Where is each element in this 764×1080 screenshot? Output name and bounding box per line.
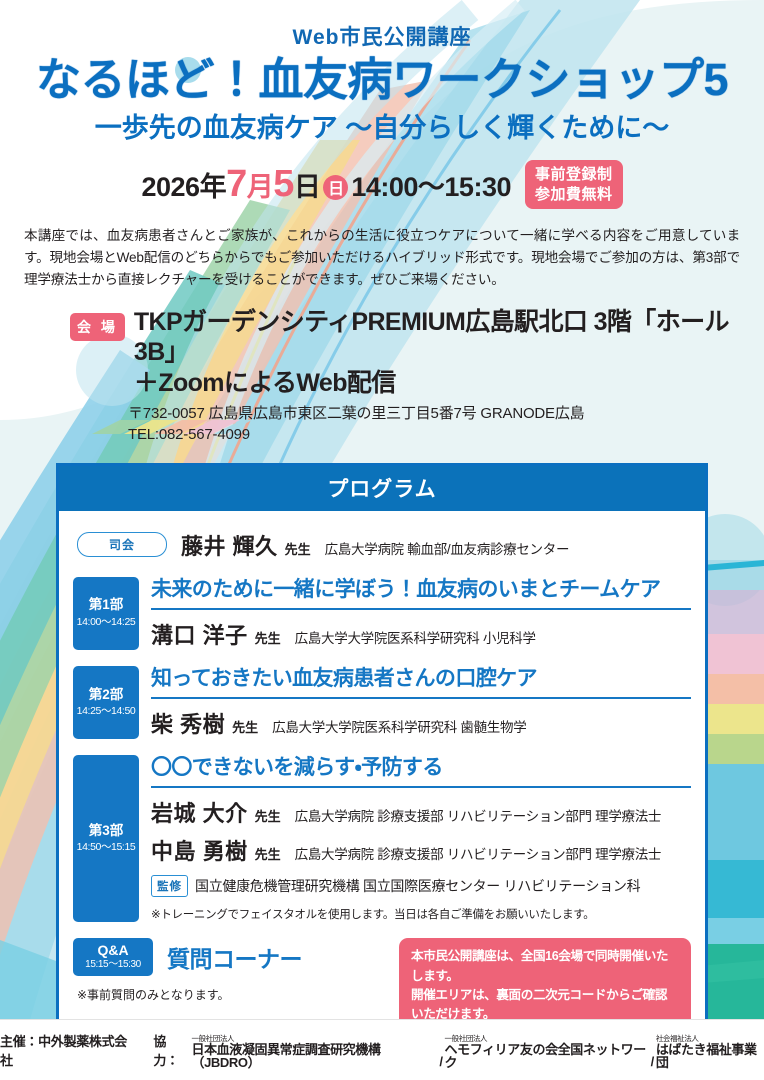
footer-org-1-name: 日本血液凝固異常症調査研究機構（JBDRO） — [191, 1043, 437, 1069]
poster-header: Web市民公開講座 なるほど！血友病ワークショップ5 一歩先の血友病ケア ～自分… — [0, 0, 764, 144]
footer-coop-label: 協力： — [153, 1031, 189, 1069]
session-1-title: 未来のために一緒に学ぼう！血友病のいまとチームケア — [151, 577, 691, 610]
qa-title: 質問コーナー — [167, 940, 302, 974]
event-time: 14:00～15:30 — [351, 165, 511, 204]
chair-affiliation: 広島大学病院 輸血部/血友病診療センター — [325, 538, 570, 558]
date-month-unit: 月 — [247, 165, 274, 204]
date-month-number: 7 — [226, 165, 247, 203]
session-3-tag-time: 14:50～15:15 — [77, 841, 136, 855]
date-day-number: 5 — [273, 165, 294, 203]
program-body: 司会 藤井 輝久 先生 広島大学病院 輸血部/血友病診療センター 第1部 14:… — [59, 511, 705, 1080]
session-1-speaker-1-honorific: 先生 — [255, 628, 281, 647]
session-3-speaker-2-name: 中島 勇樹 — [151, 834, 248, 866]
venue-name-line1: TKPガーデンシティPREMIUM広島駅北口 3階「ホール3B」 — [134, 307, 764, 368]
footer-org-1-sup: 一般社団法人 — [191, 1035, 234, 1043]
footer-org-1: 一般社団法人 日本血液凝固異常症調査研究機構（JBDRO） — [191, 1035, 437, 1070]
session-2: 第2部 14:25～14:50 知っておきたい血友病患者さんの口腔ケア 柴 秀樹… — [73, 666, 691, 739]
session-1-speaker-1-name: 溝口 洋子 — [151, 618, 248, 650]
footer-cooperation: 協力： 一般社団法人 日本血液凝固異常症調査研究機構（JBDRO） / 一般社団… — [153, 1031, 764, 1069]
venue-badge: 会 場 — [70, 313, 125, 341]
session-2-tag-label: 第2部 — [89, 687, 124, 703]
program-panel: プログラム 司会 藤井 輝久 先生 広島大学病院 輸血部/血友病診療センター 第… — [56, 463, 708, 1080]
description-text: 本講座では、血友病患者さんとご家族が、これからの生活に役立つケアについて一緒に学… — [24, 225, 740, 291]
date-day-unit: 日 — [294, 165, 321, 204]
session-3-speaker-2: 中島 勇樹 先生 広島大学病院 診療支援部 リハビリテーション部門 理学療法士 — [151, 834, 691, 866]
kicker-text: Web市民公開講座 — [0, 26, 764, 49]
session-3-tag: 第3部 14:50～15:15 — [73, 755, 139, 922]
weekday-badge: 日 — [323, 175, 348, 200]
session-1-tag-label: 第1部 — [89, 597, 124, 613]
session-3-speaker-1-name: 岩城 大介 — [151, 796, 248, 828]
venue-contact: 〒732-0057 広島県広島市東区二葉の里三丁目5番7号 GRANODE広島 … — [128, 404, 764, 445]
qa-note: ※事前質問のみとなります。 — [77, 986, 393, 1003]
supervisor-text: 国立健康危機管理研究機構 国立国際医療センター リハビリテーション科 — [195, 876, 640, 896]
page-subtitle: 一歩先の血友病ケア ～自分らしく輝くために～ — [0, 113, 764, 144]
qa-badge-label: Q&A — [73, 942, 153, 958]
venue-name-line2: ＋ZoomによるWeb配信 — [134, 368, 764, 399]
session-2-tag-time: 14:25～14:50 — [77, 705, 136, 719]
session-3-speaker-1: 岩城 大介 先生 広島大学病院 診療支援部 リハビリテーション部門 理学療法士 — [151, 796, 691, 828]
registration-badge-line1: 事前登録制 — [535, 165, 613, 184]
footer-org-2-name: ヘモフィリア友の会全国ネットワーク — [445, 1043, 649, 1069]
session-2-tag: 第2部 14:25～14:50 — [73, 666, 139, 739]
poster-root: Web市民公開講座 なるほど！血友病ワークショップ5 一歩先の血友病ケア ～自分… — [0, 0, 764, 1080]
session-1-speaker-1-affiliation: 広島大学大学院医系科学研究科 小児科学 — [295, 627, 536, 647]
chair-badge: 司会 — [77, 532, 167, 557]
session-2-speaker-1-honorific: 先生 — [232, 717, 258, 736]
venue-block: 会 場 TKPガーデンシティPREMIUM広島駅北口 3階「ホール3B」 ＋Zo… — [70, 307, 764, 445]
footer-org-3-name: はばたき福祉事業団 — [656, 1043, 764, 1069]
footer-separator-1: / — [439, 1054, 442, 1069]
qa-block: Q&A 15:15～15:30 質問コーナー ※事前質問のみとなります。 — [73, 938, 393, 1003]
session-1-tag-time: 14:00～14:25 — [77, 616, 136, 630]
session-3-speaker-1-honorific: 先生 — [255, 806, 281, 825]
session-3: 第3部 14:50～15:15 〇〇できないを減らす・予防する 岩城 大介 先生… — [73, 755, 691, 922]
footer-host: 主催：中外製薬株式会社 — [0, 1031, 133, 1069]
footer-org-2-sup: 一般社団法人 — [445, 1035, 488, 1043]
session-1-speaker-1: 溝口 洋子 先生 広島大学大学院医系科学研究科 小児科学 — [151, 618, 691, 650]
session-3-speaker-2-honorific: 先生 — [255, 844, 281, 863]
session-3-title: 〇〇できないを減らす・予防する — [151, 755, 691, 788]
poster-footer: 主催：中外製薬株式会社 協力： 一般社団法人 日本血液凝固異常症調査研究機構（J… — [0, 1019, 764, 1080]
date-row: 2026年7月5日日14:00～15:30 事前登録制 参加費無料 — [0, 160, 764, 208]
footer-org-2: 一般社団法人 ヘモフィリア友の会全国ネットワーク — [445, 1035, 649, 1070]
qa-badge: Q&A 15:15～15:30 — [73, 938, 153, 976]
event-datetime: 2026年7月5日日14:00～15:30 — [142, 165, 511, 204]
session-2-title: 知っておきたい血友病患者さんの口腔ケア — [151, 666, 691, 699]
date-year: 2026年 — [142, 165, 227, 204]
session-2-speaker-1: 柴 秀樹 先生 広島大学大学院医系科学研究科 歯髄生物学 — [151, 707, 691, 739]
chair-speaker: 藤井 輝久 先生 広島大学病院 輸血部/血友病診療センター — [181, 529, 569, 561]
session-1: 第1部 14:00～14:25 未来のために一緒に学ぼう！血友病のいまとチームケ… — [73, 577, 691, 650]
chair-row: 司会 藤井 輝久 先生 広島大学病院 輸血部/血友病診療センター — [77, 529, 691, 561]
registration-badge: 事前登録制 参加費無料 — [525, 160, 623, 208]
registration-badge-line2: 参加費無料 — [535, 185, 613, 204]
session-3-supervisor-row: 監修 国立健康危機管理研究機構 国立国際医療センター リハビリテーション科 — [151, 875, 691, 897]
notice-line1: 本市民公開講座は、全国16会場で同時開催いたします。 — [411, 947, 679, 985]
chair-honorific: 先生 — [285, 539, 311, 558]
session-3-note: ※トレーニングでフェイスタオルを使用します。当日は各自ご準備をお願いいたします。 — [151, 906, 691, 922]
footer-org-3: 社会福祉法人 はばたき福祉事業団 — [656, 1035, 764, 1070]
venue-name: TKPガーデンシティPREMIUM広島駅北口 3階「ホール3B」 ＋Zoomによ… — [134, 307, 764, 399]
footer-separator-2: / — [651, 1054, 654, 1069]
page-title: なるほど！血友病ワークショップ5 — [0, 56, 764, 103]
venue-address: 〒732-0057 広島県広島市東区二葉の里三丁目5番7号 GRANODE広島 — [128, 404, 764, 424]
supervisor-badge: 監修 — [151, 875, 188, 897]
program-heading: プログラム — [59, 466, 705, 511]
session-2-speaker-1-name: 柴 秀樹 — [151, 707, 225, 739]
session-3-speaker-1-affiliation: 広島大学病院 診療支援部 リハビリテーション部門 理学療法士 — [295, 805, 661, 825]
venue-tel: TEL:082-567-4099 — [128, 425, 764, 445]
session-2-speaker-1-affiliation: 広島大学大学院医系科学研究科 歯髄生物学 — [272, 716, 526, 736]
qa-badge-time: 15:15～15:30 — [73, 958, 153, 971]
chair-name: 藤井 輝久 — [181, 529, 278, 561]
session-3-speaker-2-affiliation: 広島大学病院 診療支援部 リハビリテーション部門 理学療法士 — [295, 843, 661, 863]
session-3-tag-label: 第3部 — [89, 823, 124, 839]
session-1-tag: 第1部 14:00～14:25 — [73, 577, 139, 650]
footer-org-3-sup: 社会福祉法人 — [656, 1035, 699, 1043]
